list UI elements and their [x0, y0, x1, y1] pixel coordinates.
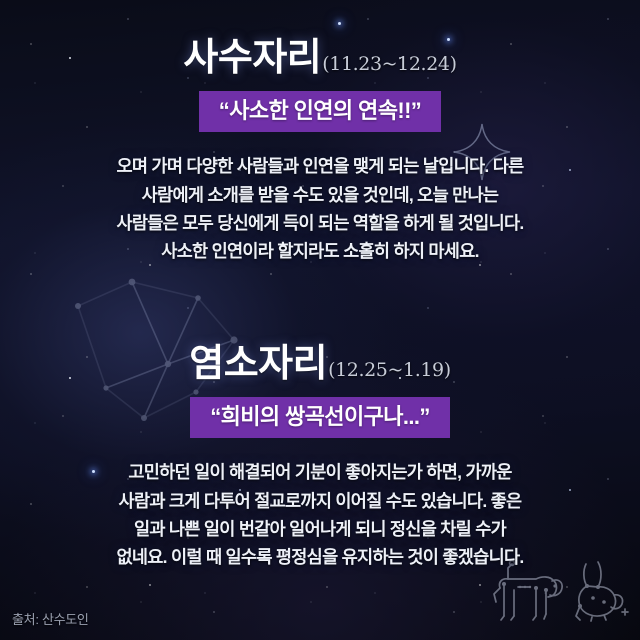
section-capricorn: 염소자리(12.25~1.19) “희비의 쌍곡선이구나...” 고민하던 일이… — [0, 344, 640, 572]
body-line: 없네요. 이럴 때 일수록 평정심을 유지하는 것이 좋겠습니다. — [42, 543, 598, 571]
sign-date-range: (12.25~1.19) — [328, 359, 451, 381]
sign-heading-sagittarius: 사수자리(11.23~12.24) — [0, 38, 640, 76]
quote-banner-capricorn: “희비의 쌍곡선이구나...” — [190, 397, 450, 438]
body-line: 사람에게 소개를 받을 수도 있을 것인데, 오늘 만나는 — [42, 181, 598, 209]
body-line: 사람과 크게 다투어 절교로까지 이어질 수도 있습니다. 좋은 — [42, 487, 598, 515]
body-line: 일과 나쁜 일이 번갈아 일어나게 되니 정신을 차릴 수가 — [42, 515, 598, 543]
body-text-sagittarius: 오며 가며 다양한 사람들과 인연을 맺게 되는 날입니다. 다른 사람에게 소… — [42, 152, 598, 265]
horoscope-card: 사수자리(11.23~12.24) “사소한 인연의 연속!!” 오며 가며 다… — [0, 0, 640, 640]
section-sagittarius: 사수자리(11.23~12.24) “사소한 인연의 연속!!” 오며 가며 다… — [0, 38, 640, 266]
body-line: 고민하던 일이 해결되어 기분이 좋아지는가 하면, 가까운 — [42, 458, 598, 486]
sign-date-range: (11.23~12.24) — [322, 53, 456, 75]
body-text-capricorn: 고민하던 일이 해결되어 기분이 좋아지는가 하면, 가까운 사람과 크게 다투… — [42, 458, 598, 571]
sign-heading-capricorn: 염소자리(12.25~1.19) — [0, 344, 640, 382]
body-line: 사소한 인연이라 할지라도 소홀히 하지 마세요. — [42, 237, 598, 265]
body-line: 오며 가며 다양한 사람들과 인연을 맺게 되는 날입니다. 다른 — [42, 152, 598, 180]
source-attribution: 출처: 산수도인 — [12, 609, 89, 628]
quote-banner-sagittarius: “사소한 인연의 연속!!” — [199, 91, 441, 132]
sign-name: 염소자리 — [189, 340, 327, 385]
sign-name: 사수자리 — [183, 34, 321, 79]
body-line: 사람들은 모두 당신에게 득이 되는 역할을 하게 될 것입니다. — [42, 209, 598, 237]
card-content: 사수자리(11.23~12.24) “사소한 인연의 연속!!” 오며 가며 다… — [0, 0, 640, 640]
